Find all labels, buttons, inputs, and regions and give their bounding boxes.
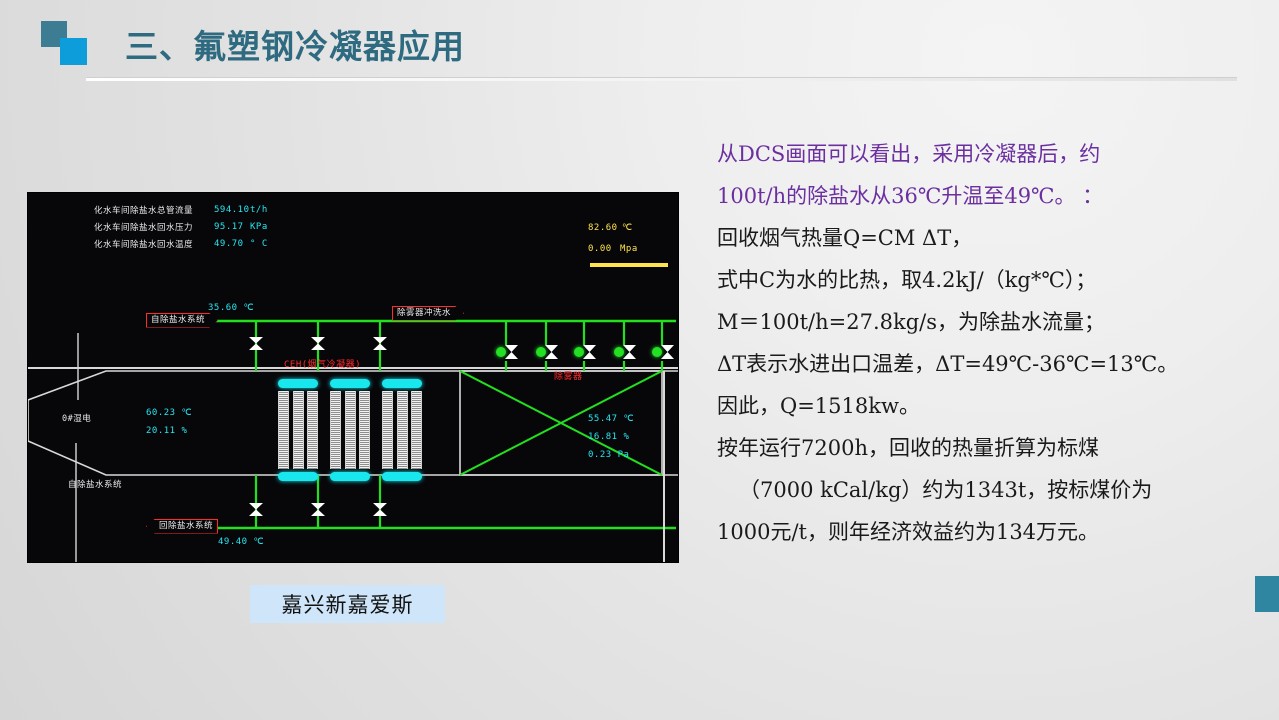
valve-icon — [574, 345, 596, 359]
body-line-6: 因此，Q=1518kw。 — [717, 385, 1262, 427]
valve-icon — [496, 345, 518, 359]
page-title: 三、氟塑钢冷凝器应用 — [125, 20, 465, 68]
body-line-8: （7000 kCal/kg）约为1343t，按标煤价为 — [717, 469, 1262, 511]
tag-inlet-supply: 自除盐水系统 — [146, 313, 218, 328]
body-text-block: 从DCS画面可以看出，采用冷凝器后，约100t/h的除盐水从36℃升温至49℃。… — [717, 133, 1262, 553]
header-divider — [86, 77, 1237, 81]
right-value-1: 16.81 % — [588, 433, 629, 442]
side-note-label: 自除盐水系统 — [68, 481, 122, 490]
valve-icon — [373, 337, 387, 350]
body-line-5: ΔT表示水进出口温差，ΔT=49℃-36℃=13℃。 — [717, 343, 1262, 385]
valve-icon — [614, 345, 636, 359]
inlet-temp: 35.60 ℃ — [208, 304, 254, 313]
right-value-0: 55.47 ℃ — [588, 415, 634, 424]
tag-outlet-return: 回除盐水系统 — [146, 519, 218, 534]
condenser-label: CEH(烟气冷凝器) — [284, 361, 361, 370]
wesp-label: 0#湿电 — [62, 415, 91, 424]
body-line-7: 按年运行7200h，回收的热量折算为标煤 — [717, 427, 1262, 469]
right-value-2: 0.23 Pa — [588, 451, 629, 460]
left-value-0: 60.23 ℃ — [146, 409, 192, 418]
tag-demister-wash: 除雾器冲洗水 — [392, 306, 464, 321]
valve-icon — [249, 337, 263, 350]
body-line-3: 式中C为水的比热，取4.2kJ/（kg*℃）； — [717, 259, 1262, 301]
header-square-blue — [60, 38, 87, 65]
valve-icon — [249, 503, 263, 516]
valve-icon — [373, 503, 387, 516]
condenser-module — [330, 379, 370, 481]
condenser-module — [382, 379, 422, 481]
demister-label: 除雾器 — [554, 373, 583, 382]
outlet-temp: 49.40 ℃ — [218, 538, 264, 547]
valve-icon — [311, 337, 325, 350]
valve-icon — [311, 503, 325, 516]
accent-bar — [1255, 576, 1279, 612]
valve-icon — [652, 345, 674, 359]
photo-caption: 嘉兴新嘉爱斯 — [250, 585, 445, 623]
condenser-module — [278, 379, 318, 481]
body-line-4: M＝100t/h=27.8kg/s，为除盐水流量； — [717, 301, 1262, 343]
body-line-2: 回收烟气热量Q=CM ΔT， — [717, 217, 1262, 259]
dcs-screen-photo: 化水车间除盐水总管流量 594.10 t/h 化水车间除盐水回水压力 95.17… — [28, 193, 678, 562]
body-line-0: 从DCS画面可以看出，采用冷凝器后，约 — [717, 133, 1262, 175]
slide-root: 三、氟塑钢冷凝器应用 从DCS画面可以看出，采用冷凝器后，约100t/h的除盐水… — [0, 0, 1279, 720]
valve-icon — [536, 345, 558, 359]
body-line-1: 100t/h的除盐水从36℃升温至49℃。 ： — [717, 175, 1262, 217]
left-value-1: 20.11 % — [146, 427, 187, 436]
body-line-9: 1000元/t，则年经济效益约为134万元。 — [717, 511, 1262, 553]
